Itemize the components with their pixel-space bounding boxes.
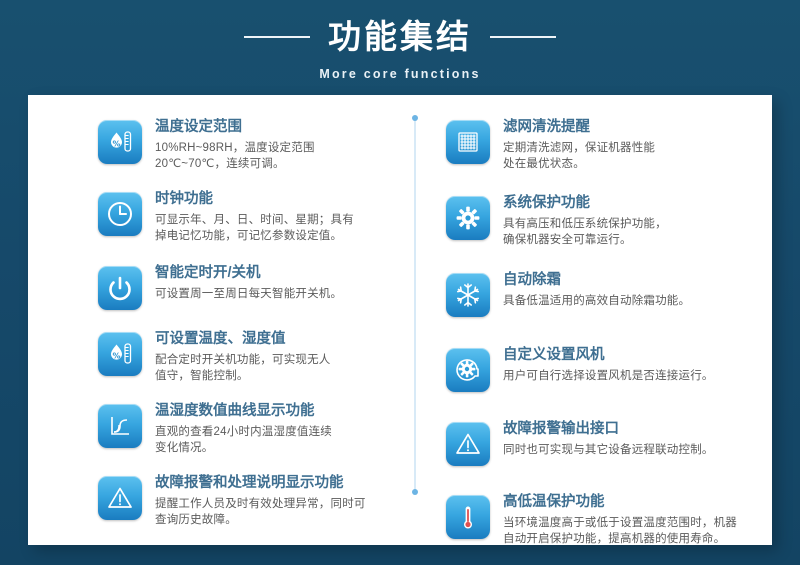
features-card: % 温度设定范围 10%RH~98RH，温度设定范围 20℃~70℃，连续可调。 <box>28 95 772 545</box>
feature-desc-line: 同时也可实现与其它设备远程联动控制。 <box>503 442 714 458</box>
feature-title: 自定义设置风机 <box>503 346 714 365</box>
feature-text: 故障报警和处理说明显示功能 提醒工作人员及时有效处理异常，同时可 查询历史故障。 <box>155 473 366 528</box>
page-header: 功能集结 More core functions <box>0 0 800 95</box>
features-column-left: % 温度设定范围 10%RH~98RH，温度设定范围 20℃~70℃，连续可调。 <box>36 117 400 535</box>
title-row: 功能集结 <box>244 14 556 60</box>
feature-desc: 具备低温适用的高效自动除霜功能。 <box>503 293 690 309</box>
thermometer-icon <box>446 495 490 539</box>
feature-text: 可设置温度、湿度值 配合定时开关机功能，可实现无人 值守，智能控制。 <box>155 329 331 384</box>
feature-item[interactable]: 智能定时开/关机 可设置周一至周日每天智能开关机。 <box>98 263 374 310</box>
feature-text: 温湿度数值曲线显示功能 直观的查看24小时内温湿度值连续 变化情况。 <box>155 401 332 456</box>
feature-title: 高低温保护功能 <box>503 493 737 512</box>
fan-gear-icon <box>446 348 490 392</box>
feature-item[interactable]: 温湿度数值曲线显示功能 直观的查看24小时内温湿度值连续 变化情况。 <box>98 401 374 456</box>
warning-triangle-icon <box>98 476 142 520</box>
feature-text: 高低温保护功能 当环境温度高于或低于设置温度范围时，机器 自动开启保护功能，提高… <box>503 492 737 547</box>
feature-desc-line: 掉电记忆功能，可记忆参数设定值。 <box>155 228 354 244</box>
feature-desc-line: 20℃~70℃，连续可调。 <box>155 156 315 172</box>
power-icon <box>98 266 142 310</box>
features-column-right: 滤网清洗提醒 定期清洗滤网，保证机器性能 处在最优状态。 <box>400 117 764 535</box>
snowflake-icon <box>446 273 490 317</box>
warning-triangle-icon <box>446 422 490 466</box>
feature-desc-line: 直观的查看24小时内温湿度值连续 <box>155 424 332 440</box>
feature-desc-line: 配合定时开关机功能，可实现无人 <box>155 352 331 368</box>
feature-text: 滤网清洗提醒 定期清洗滤网，保证机器性能 处在最优状态。 <box>503 117 655 172</box>
feature-item[interactable]: 系统保护功能 具有高压和低压系统保护功能， 确保机器安全可靠运行。 <box>446 193 746 248</box>
feature-desc: 同时也可实现与其它设备远程联动控制。 <box>503 442 714 458</box>
title-rule-left <box>244 36 310 38</box>
feature-desc: 10%RH~98RH，温度设定范围 20℃~70℃，连续可调。 <box>155 140 315 172</box>
title-rule-right <box>490 36 556 38</box>
humidity-thermometer-icon: % <box>98 332 142 376</box>
filter-mesh-icon <box>446 120 490 164</box>
feature-title: 故障报警输出接口 <box>503 420 714 439</box>
feature-title: 智能定时开/关机 <box>155 264 342 283</box>
feature-desc-line: 当环境温度高于或低于设置温度范围时，机器 <box>503 515 737 531</box>
feature-desc: 可显示年、月、日、时间、星期；具有 掉电记忆功能，可记忆参数设定值。 <box>155 212 354 244</box>
feature-item[interactable]: 高低温保护功能 当环境温度高于或低于设置温度范围时，机器 自动开启保护功能，提高… <box>446 492 746 547</box>
feature-item[interactable]: 自定义设置风机 用户可自行选择设置风机是否连接运行。 <box>446 345 746 392</box>
feature-title: 时钟功能 <box>155 190 354 209</box>
feature-title: 温度设定范围 <box>155 118 315 137</box>
svg-text:%: % <box>112 352 120 361</box>
feature-title: 自动除霜 <box>503 271 690 290</box>
feature-item[interactable]: 滤网清洗提醒 定期清洗滤网，保证机器性能 处在最优状态。 <box>446 117 746 172</box>
feature-item[interactable]: % 可设置温度、湿度值 配合定时开关机功能，可实现无人 值守，智能控制。 <box>98 329 374 384</box>
feature-item[interactable]: 故障报警输出接口 同时也可实现与其它设备远程联动控制。 <box>446 419 746 466</box>
feature-item[interactable]: 时钟功能 可显示年、月、日、时间、星期；具有 掉电记忆功能，可记忆参数设定值。 <box>98 189 374 244</box>
features-columns: % 温度设定范围 10%RH~98RH，温度设定范围 20℃~70℃，连续可调。 <box>28 95 772 545</box>
page-title: 功能集结 <box>328 17 472 57</box>
humidity-thermometer-icon: % <box>98 120 142 164</box>
feature-title: 滤网清洗提醒 <box>503 118 655 137</box>
feature-desc-line: 变化情况。 <box>155 440 332 456</box>
feature-desc-line: 值守，智能控制。 <box>155 368 331 384</box>
feature-title: 故障报警和处理说明显示功能 <box>155 474 366 493</box>
feature-desc-line: 定期清洗滤网，保证机器性能 <box>503 140 655 156</box>
feature-title: 温湿度数值曲线显示功能 <box>155 402 332 421</box>
feature-desc: 配合定时开关机功能，可实现无人 值守，智能控制。 <box>155 352 331 384</box>
feature-desc: 定期清洗滤网，保证机器性能 处在最优状态。 <box>503 140 655 172</box>
feature-desc-line: 处在最优状态。 <box>503 156 655 172</box>
feature-desc-line: 10%RH~98RH，温度设定范围 <box>155 140 315 156</box>
curve-chart-icon <box>98 404 142 448</box>
svg-text:%: % <box>112 140 120 149</box>
feature-text: 系统保护功能 具有高压和低压系统保护功能， 确保机器安全可靠运行。 <box>503 193 667 248</box>
feature-desc: 直观的查看24小时内温湿度值连续 变化情况。 <box>155 424 332 456</box>
feature-desc-line: 确保机器安全可靠运行。 <box>503 232 667 248</box>
page-subtitle: More core functions <box>319 67 480 81</box>
feature-title: 可设置温度、湿度值 <box>155 330 331 349</box>
feature-desc: 具有高压和低压系统保护功能， 确保机器安全可靠运行。 <box>503 216 667 248</box>
feature-desc: 可设置周一至周日每天智能开关机。 <box>155 286 342 302</box>
feature-desc: 提醒工作人员及时有效处理异常，同时可 查询历史故障。 <box>155 496 366 528</box>
feature-text: 自动除霜 具备低温适用的高效自动除霜功能。 <box>503 270 690 309</box>
feature-desc-line: 用户可自行选择设置风机是否连接运行。 <box>503 368 714 384</box>
feature-desc-line: 可显示年、月、日、时间、星期；具有 <box>155 212 354 228</box>
feature-desc: 当环境温度高于或低于设置温度范围时，机器 自动开启保护功能，提高机器的使用寿命。 <box>503 515 737 547</box>
feature-desc-line: 提醒工作人员及时有效处理异常，同时可 <box>155 496 366 512</box>
feature-desc-line: 具有高压和低压系统保护功能， <box>503 216 667 232</box>
feature-item[interactable]: 故障报警和处理说明显示功能 提醒工作人员及时有效处理异常，同时可 查询历史故障。 <box>98 473 374 528</box>
feature-text: 自定义设置风机 用户可自行选择设置风机是否连接运行。 <box>503 345 714 384</box>
feature-text: 故障报警输出接口 同时也可实现与其它设备远程联动控制。 <box>503 419 714 458</box>
gear-icon <box>446 196 490 240</box>
feature-text: 时钟功能 可显示年、月、日、时间、星期；具有 掉电记忆功能，可记忆参数设定值。 <box>155 189 354 244</box>
feature-item[interactable]: % 温度设定范围 10%RH~98RH，温度设定范围 20℃~70℃，连续可调。 <box>98 117 374 172</box>
clock-icon <box>98 192 142 236</box>
feature-text: 温度设定范围 10%RH~98RH，温度设定范围 20℃~70℃，连续可调。 <box>155 117 315 172</box>
feature-desc-line: 可设置周一至周日每天智能开关机。 <box>155 286 342 302</box>
feature-desc-line: 查询历史故障。 <box>155 512 366 528</box>
feature-text: 智能定时开/关机 可设置周一至周日每天智能开关机。 <box>155 263 342 302</box>
feature-item[interactable]: 自动除霜 具备低温适用的高效自动除霜功能。 <box>446 270 746 317</box>
feature-desc-line: 具备低温适用的高效自动除霜功能。 <box>503 293 690 309</box>
feature-desc: 用户可自行选择设置风机是否连接运行。 <box>503 368 714 384</box>
feature-title: 系统保护功能 <box>503 194 667 213</box>
feature-desc-line: 自动开启保护功能，提高机器的使用寿命。 <box>503 531 737 547</box>
